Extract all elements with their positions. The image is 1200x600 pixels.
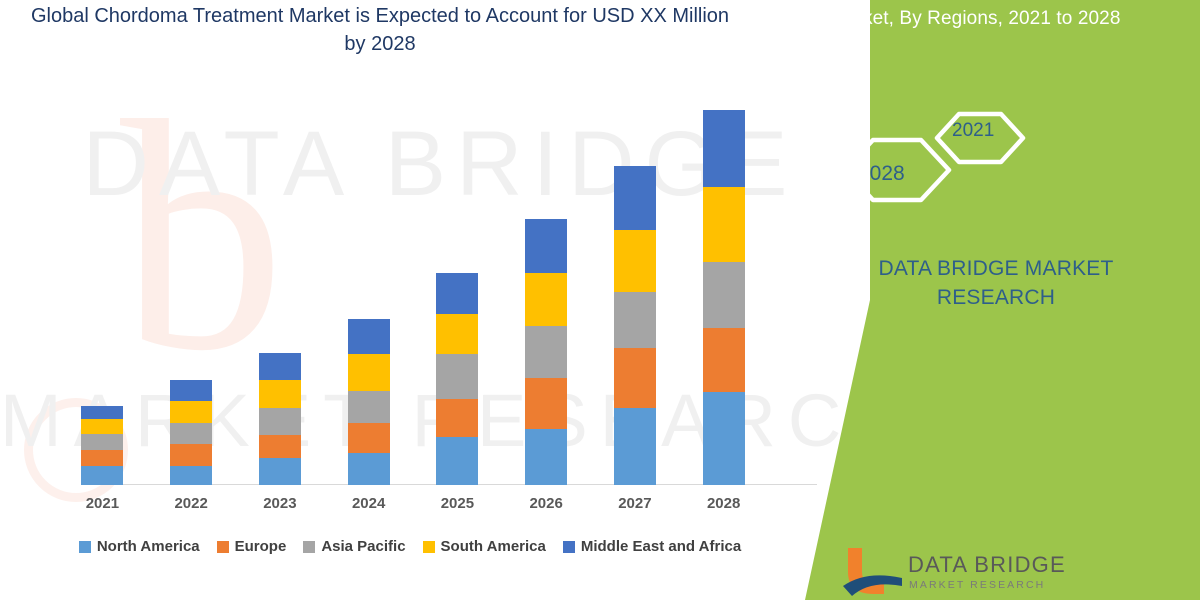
bar-segment — [348, 354, 390, 390]
bar-segment — [436, 314, 478, 355]
x-axis-tick-label: 2023 — [259, 495, 301, 512]
logo-name: DATA BRIDGE — [908, 552, 1066, 578]
bar-segment — [703, 110, 745, 187]
bar-segment — [170, 380, 212, 401]
bar-segment — [81, 406, 123, 419]
x-axis-tick-label: 2028 — [703, 495, 745, 512]
bar-segment — [436, 273, 478, 314]
bar-segment — [614, 292, 656, 348]
bar-segment — [703, 262, 745, 327]
bar-group — [58, 110, 768, 485]
bar-segment — [170, 423, 212, 444]
logo-bridge-icon — [840, 542, 910, 600]
infographic-root: b DATA BRIDGE MARKET RESEARCH Global Cho… — [0, 0, 1200, 600]
legend-item[interactable]: South America — [423, 538, 546, 555]
x-axis-tick-label: 2021 — [81, 495, 123, 512]
logo-tagline: MARKET RESEARCH — [909, 579, 1045, 591]
legend-item[interactable]: Middle East and Africa — [563, 538, 741, 555]
legend-item[interactable]: Europe — [217, 538, 287, 555]
legend-item[interactable]: Asia Pacific — [303, 538, 405, 555]
bar-segment — [348, 423, 390, 453]
bar-segment — [436, 399, 478, 437]
bar-segment — [81, 450, 123, 466]
bar-segment — [81, 466, 123, 485]
bar-segment — [259, 353, 301, 380]
x-axis-tick-label: 2027 — [614, 495, 656, 512]
bar-segment — [259, 435, 301, 459]
bar-segment — [259, 408, 301, 435]
x-axis-labels: 20212022202320242025202620272028 — [58, 495, 768, 512]
plot-area — [58, 110, 768, 485]
bar-segment — [348, 453, 390, 485]
bar-segment — [436, 437, 478, 485]
bar-segment — [170, 401, 212, 422]
right-panel-title: Market, By Regions, 2021 to 2028 — [830, 8, 1190, 30]
legend-label: Middle East and Africa — [581, 538, 741, 555]
bar-column — [170, 380, 212, 485]
bar-column — [81, 406, 123, 485]
bar-segment — [81, 419, 123, 434]
legend-label: Asia Pacific — [321, 538, 405, 555]
bar-segment — [525, 429, 567, 485]
bar-segment — [525, 273, 567, 327]
bar-segment — [614, 230, 656, 292]
bar-column — [525, 219, 567, 485]
legend-swatch-icon — [423, 541, 435, 553]
bar-segment — [614, 348, 656, 408]
x-axis-tick-label: 2024 — [348, 495, 390, 512]
legend-swatch-icon — [563, 541, 575, 553]
bar-segment — [259, 458, 301, 485]
bar-column — [436, 273, 478, 485]
bar-segment — [170, 466, 212, 485]
legend-item[interactable]: North America — [79, 538, 200, 555]
page-title: Global Chordoma Treatment Market is Expe… — [20, 3, 740, 58]
bar-segment — [348, 391, 390, 423]
bar-segment — [170, 444, 212, 465]
bar-segment — [525, 378, 567, 429]
bar-column — [703, 110, 745, 485]
bar-segment — [703, 392, 745, 485]
legend-swatch-icon — [79, 541, 91, 553]
bar-segment — [259, 380, 301, 408]
chart-panel: b DATA BRIDGE MARKET RESEARCH Global Cho… — [0, 0, 880, 600]
bar-segment — [525, 219, 567, 273]
legend-swatch-icon — [303, 541, 315, 553]
x-axis-tick-label: 2026 — [525, 495, 567, 512]
legend-label: South America — [441, 538, 546, 555]
bar-segment — [703, 187, 745, 262]
bar-segment — [525, 326, 567, 377]
bar-column — [348, 319, 390, 485]
company-logo: DATA BRIDGE MARKET RESEARCH — [840, 542, 1180, 600]
x-axis-tick-label: 2025 — [436, 495, 478, 512]
x-axis-tick-label: 2022 — [170, 495, 212, 512]
bar-segment — [81, 434, 123, 450]
chart-legend: North AmericaEuropeAsia PacificSouth Ame… — [0, 538, 820, 555]
bar-segment — [703, 328, 745, 392]
bar-column — [614, 166, 656, 485]
legend-label: North America — [97, 538, 200, 555]
bar-segment — [614, 408, 656, 485]
bar-segment — [436, 354, 478, 399]
bar-column — [259, 353, 301, 485]
bar-segment — [348, 319, 390, 354]
legend-swatch-icon — [217, 541, 229, 553]
bar-segment — [614, 166, 656, 230]
hexagon-small-label: 2021 — [952, 120, 994, 142]
legend-label: Europe — [235, 538, 287, 555]
